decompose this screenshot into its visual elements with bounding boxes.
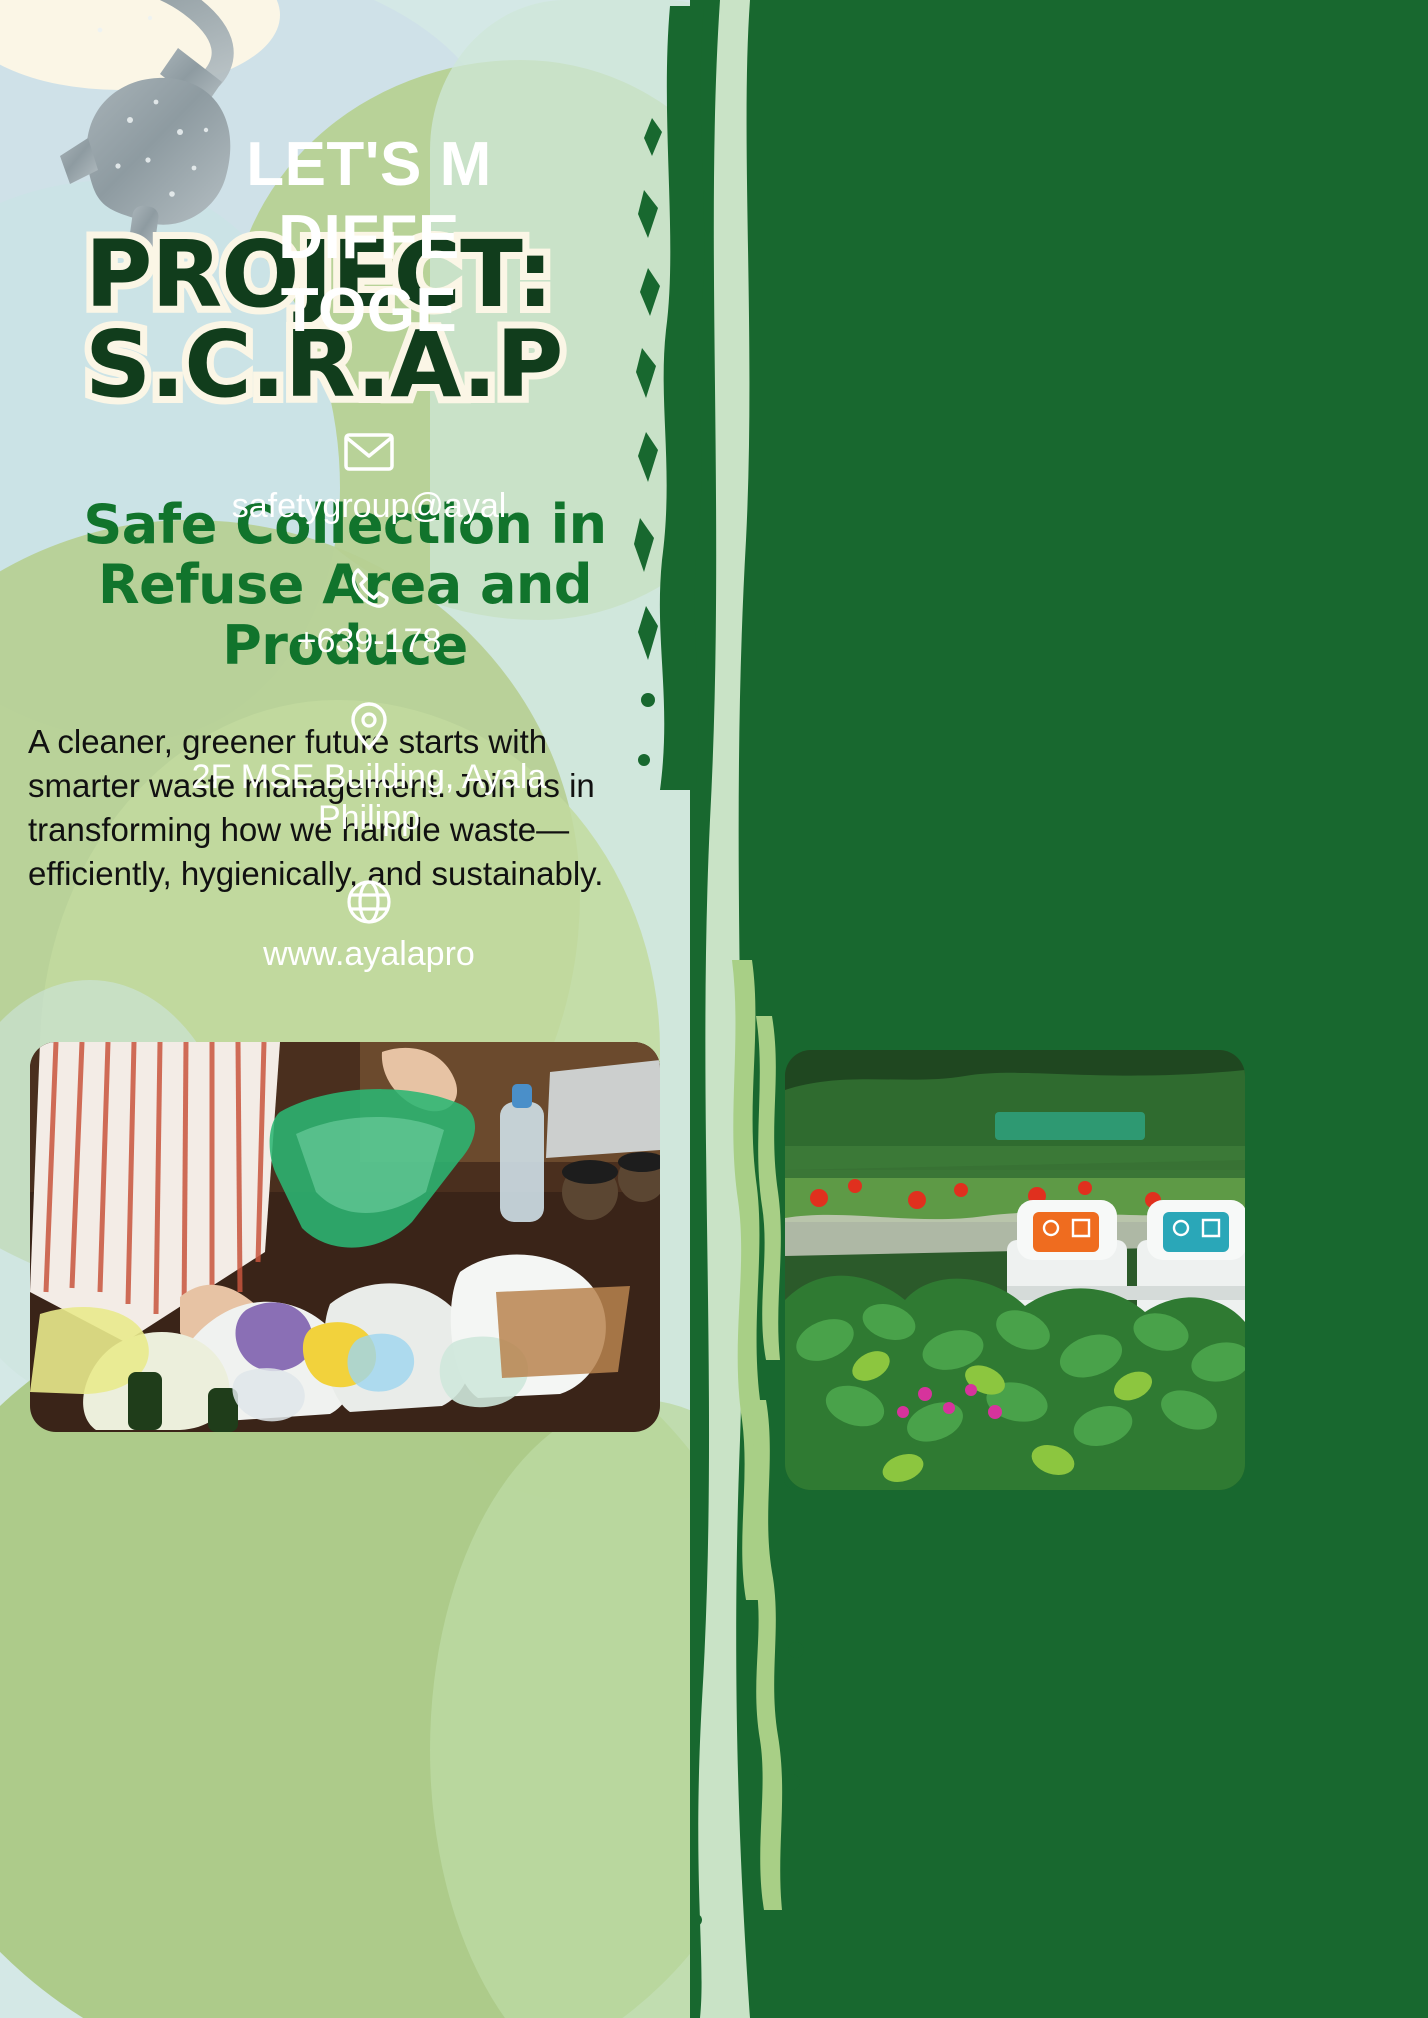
contact-email-row[interactable]: safetygroup@ayal [0, 430, 738, 527]
cta-line-3: TOGE [0, 274, 738, 347]
globe-icon [0, 878, 738, 924]
contact-website-text: www.ayalapro [0, 934, 738, 975]
contact-address-line-2: Philipp [0, 798, 738, 839]
contact-details: safetygroup@ayal +639-178 2F MSE Buildin… [0, 430, 738, 997]
contact-address-line-1: 2F MSE Building, Ayala [0, 757, 738, 798]
contact-website-row[interactable]: www.ayalapro [0, 878, 738, 975]
poster-canvas: PROJECT: S.C.R.A.P Safe Collection in Re… [0, 0, 1428, 2018]
contact-email-text: safetygroup@ayal [0, 486, 738, 527]
contact-phone-row[interactable]: +639-178 [0, 565, 738, 662]
phone-icon [0, 565, 738, 611]
map-pin-icon [0, 701, 738, 747]
cta-line-1: LET'S M [0, 128, 738, 201]
contact-phone-text: +639-178 [0, 621, 738, 662]
contact-address-row[interactable]: 2F MSE Building, Ayala Philipp [0, 701, 738, 840]
photo-waste-sorting [30, 1042, 660, 1432]
cta-line-2: DIFFE [0, 201, 738, 274]
envelope-icon [0, 430, 738, 476]
cta-heading: LET'S M DIFFE TOGE [0, 128, 738, 347]
photo-recycling-bins [785, 1050, 1245, 1490]
